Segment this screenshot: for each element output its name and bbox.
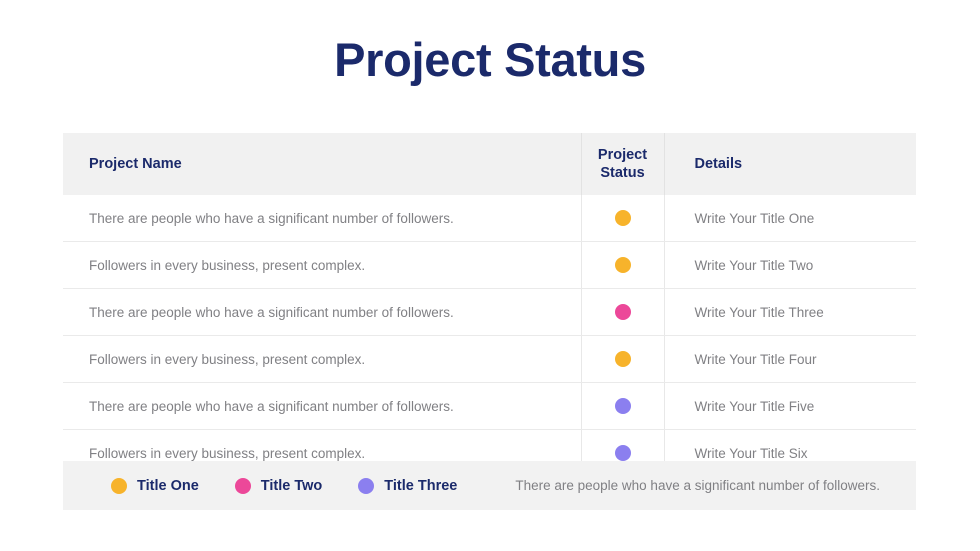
cell-project-status — [581, 242, 664, 289]
legend-dot-icon — [235, 478, 251, 494]
project-status-table: Project Name Project Status Details Ther… — [63, 133, 916, 476]
column-header-project-status: Project Status — [581, 133, 664, 195]
table-row[interactable]: Followers in every business, present com… — [63, 242, 916, 289]
status-dot-icon — [615, 210, 631, 226]
cell-project-status — [581, 289, 664, 336]
table-body: There are people who have a significant … — [63, 195, 916, 476]
status-dot-icon — [615, 304, 631, 320]
legend-item-label: Title One — [137, 478, 199, 494]
legend-item[interactable]: Title Two — [235, 478, 323, 494]
column-header-details: Details — [664, 133, 916, 195]
table-row[interactable]: Followers in every business, present com… — [63, 336, 916, 383]
status-dot-icon — [615, 398, 631, 414]
status-dot-icon — [615, 351, 631, 367]
status-dot-icon — [615, 257, 631, 273]
cell-details: Write Your Title One — [664, 195, 916, 242]
table-row[interactable]: There are people who have a significant … — [63, 289, 916, 336]
legend-item[interactable]: Title Three — [358, 478, 457, 494]
legend-dot-icon — [111, 478, 127, 494]
page-title: Project Status — [0, 34, 980, 86]
cell-project-name: There are people who have a significant … — [63, 383, 581, 430]
table-row[interactable]: There are people who have a significant … — [63, 195, 916, 242]
table: Project Name Project Status Details Ther… — [63, 133, 916, 476]
cell-details: Write Your Title Four — [664, 336, 916, 383]
status-dot-icon — [615, 445, 631, 461]
column-header-project-name: Project Name — [63, 133, 581, 195]
legend-group: Title One Title Two Title Three — [63, 478, 457, 494]
column-header-project-status-line2: Status — [600, 165, 644, 181]
cell-details: Write Your Title Five — [664, 383, 916, 430]
cell-details: Write Your Title Two — [664, 242, 916, 289]
cell-project-status — [581, 383, 664, 430]
legend-item-label: Title Two — [261, 478, 323, 494]
legend-item-label: Title Three — [384, 478, 457, 494]
cell-details: Write Your Title Three — [664, 289, 916, 336]
cell-project-name: Followers in every business, present com… — [63, 336, 581, 383]
table-header-row: Project Name Project Status Details — [63, 133, 916, 195]
cell-project-status — [581, 195, 664, 242]
footer-note: There are people who have a significant … — [515, 478, 880, 493]
legend-item[interactable]: Title One — [111, 478, 199, 494]
legend-dot-icon — [358, 478, 374, 494]
cell-project-status — [581, 336, 664, 383]
column-header-project-status-line1: Project — [598, 147, 647, 163]
table-header: Project Name Project Status Details — [63, 133, 916, 195]
table-row[interactable]: There are people who have a significant … — [63, 383, 916, 430]
cell-project-name: There are people who have a significant … — [63, 289, 581, 336]
cell-project-name: Followers in every business, present com… — [63, 242, 581, 289]
legend-footer: Title One Title Two Title Three There ar… — [63, 461, 916, 510]
cell-project-name: There are people who have a significant … — [63, 195, 581, 242]
slide-canvas: Project Status Project Name Project Stat… — [0, 0, 980, 551]
